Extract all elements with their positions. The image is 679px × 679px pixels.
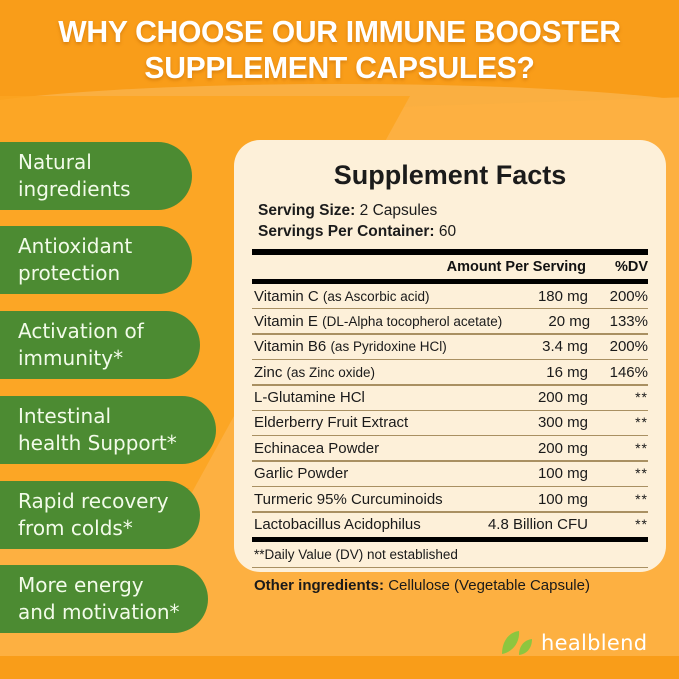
ingredient-name: Vitamin B6 (as Pyridoxine HCl) xyxy=(254,338,496,355)
ingredient-name-sub: (DL-Alpha tocopherol acetate) xyxy=(322,314,502,329)
benefit-pill-6: More energyand motivation* xyxy=(0,565,208,633)
benefit-pill-1: Naturalingredients xyxy=(0,142,192,210)
ingredient-amount: 200 mg xyxy=(496,440,588,457)
ingredient-daily-value: 133% xyxy=(604,313,648,330)
other-ingredients-line: Other ingredients: Cellulose (Vegetable … xyxy=(252,568,648,594)
ingredient-name-main: Vitamin E xyxy=(254,313,318,330)
supplement-facts-title: Supplement Facts xyxy=(252,158,648,192)
benefit-pill-4: Intestinalhealth Support* xyxy=(0,396,216,464)
brand-name: healblend xyxy=(541,631,647,655)
benefit-line-1: Natural xyxy=(18,149,131,176)
ingredient-table: Vitamin C (as Ascorbic acid)180 mg200%Vi… xyxy=(252,284,648,537)
table-row: Garlic Powder100 mg** xyxy=(252,462,648,486)
leaf-icon xyxy=(500,630,534,656)
ingredient-name-main: Vitamin C xyxy=(254,288,319,305)
serving-size-value: 2 Capsules xyxy=(360,202,438,219)
ingredient-amount: 100 mg xyxy=(496,465,588,482)
table-row: Vitamin B6 (as Pyridoxine HCl)3.4 mg200% xyxy=(252,335,648,359)
headline-line-1: WHY CHOOSE OUR IMMUNE BOOSTER xyxy=(58,14,620,49)
ingredient-name: Lactobacillus Acidophilus xyxy=(254,516,438,533)
ingredient-daily-value: ** xyxy=(602,465,648,481)
ingredient-amount: 180 mg xyxy=(496,288,588,305)
page-title: WHY CHOOSE OUR IMMUNE BOOSTER SUPPLEMENT… xyxy=(10,14,669,86)
benefit-line-1: Intestinal xyxy=(18,403,177,430)
table-row: Vitamin C (as Ascorbic acid)180 mg200% xyxy=(252,284,648,308)
servings-per-container-label: Servings Per Container: xyxy=(258,223,435,240)
ingredient-name-sub: (as Pyridoxine HCl) xyxy=(330,339,446,354)
ingredient-amount: 16 mg xyxy=(496,364,588,381)
table-row: L-Glutamine HCl200 mg** xyxy=(252,386,648,410)
benefit-line-1: Antioxidant xyxy=(18,233,132,260)
ingredient-name: Echinacea Powder xyxy=(254,440,496,457)
ingredient-amount: 300 mg xyxy=(496,414,588,431)
headline-line-2: SUPPLEMENT CAPSULES? xyxy=(10,50,669,86)
table-row: Vitamin E (DL-Alpha tocopherol acetate)2… xyxy=(252,309,648,333)
serving-size-label: Serving Size: xyxy=(258,202,355,219)
benefit-line-2: protection xyxy=(18,260,132,287)
supplement-facts-card: Supplement Facts Serving Size: 2 Capsule… xyxy=(234,140,666,572)
benefit-line-1: Rapid recovery xyxy=(18,488,169,515)
benefit-line-2: and motivation* xyxy=(18,599,180,626)
ingredient-amount: 3.4 mg xyxy=(496,338,588,355)
ingredient-daily-value: 200% xyxy=(602,338,648,355)
table-row: Lactobacillus Acidophilus4.8 Billion CFU… xyxy=(252,513,648,537)
ingredient-name: Vitamin E (DL-Alpha tocopherol acetate) xyxy=(254,313,502,330)
ingredient-amount: 100 mg xyxy=(496,491,588,508)
benefit-line-2: health Support* xyxy=(18,430,177,457)
servings-per-container-line: Servings Per Container: 60 xyxy=(252,221,648,242)
poster-root: WHY CHOOSE OUR IMMUNE BOOSTER SUPPLEMENT… xyxy=(0,0,679,679)
benefit-line-2: ingredients xyxy=(18,176,131,203)
ingredient-daily-value: ** xyxy=(602,414,648,430)
ingredient-name-main: L-Glutamine HCl xyxy=(254,389,365,406)
column-header-dv: %DV xyxy=(602,259,648,275)
ingredient-name-main: Lactobacillus Acidophilus xyxy=(254,516,421,533)
ingredient-name: L-Glutamine HCl xyxy=(254,389,496,406)
servings-per-container-value: 60 xyxy=(439,223,456,240)
ingredient-daily-value: ** xyxy=(602,516,648,532)
ingredient-amount: 20 mg xyxy=(502,313,590,330)
ingredient-daily-value: ** xyxy=(602,389,648,405)
ingredient-name: Garlic Powder xyxy=(254,465,496,482)
ingredient-name-main: Zinc xyxy=(254,364,282,381)
daily-value-footnote: **Daily Value (DV) not established xyxy=(252,542,648,567)
table-row: Zinc (as Zinc oxide)16 mg146% xyxy=(252,360,648,384)
ingredient-daily-value: 146% xyxy=(602,364,648,381)
benefit-line-1: Activation of xyxy=(18,318,144,345)
ingredient-name-main: Vitamin B6 xyxy=(254,338,326,355)
serving-size-line: Serving Size: 2 Capsules xyxy=(252,200,648,221)
ingredient-amount: 200 mg xyxy=(496,389,588,406)
benefit-line-2: from colds* xyxy=(18,515,169,542)
table-row: Elderberry Fruit Extract300 mg** xyxy=(252,411,648,435)
other-ingredients-value: Cellulose (Vegetable Capsule) xyxy=(388,577,590,594)
table-row: Turmeric 95% Curcuminoids100 mg** xyxy=(252,487,648,511)
table-header-row: Amount Per Serving %DV xyxy=(252,255,648,279)
ingredient-name: Elderberry Fruit Extract xyxy=(254,414,496,431)
ingredient-daily-value: 200% xyxy=(602,288,648,305)
benefit-line-2: immunity* xyxy=(18,345,144,372)
ingredient-name: Turmeric 95% Curcuminoids xyxy=(254,491,496,508)
benefit-pill-5: Rapid recoveryfrom colds* xyxy=(0,481,200,549)
table-row: Echinacea Powder200 mg** xyxy=(252,436,648,460)
ingredient-name-main: Garlic Powder xyxy=(254,465,348,482)
ingredient-name-main: Elderberry Fruit Extract xyxy=(254,414,408,431)
ingredient-name: Zinc (as Zinc oxide) xyxy=(254,364,496,381)
brand-logo: healblend xyxy=(500,630,647,656)
benefit-pill-3: Activation ofimmunity* xyxy=(0,311,200,379)
benefit-line-1: More energy xyxy=(18,572,180,599)
ingredient-name: Vitamin C (as Ascorbic acid) xyxy=(254,288,496,305)
column-header-amount: Amount Per Serving xyxy=(447,259,586,275)
benefit-pill-2: Antioxidantprotection xyxy=(0,226,192,294)
other-ingredients-label: Other ingredients: xyxy=(254,577,384,594)
ingredient-name-sub: (as Zinc oxide) xyxy=(287,365,376,380)
ingredient-name-main: Turmeric 95% Curcuminoids xyxy=(254,491,443,508)
ingredient-daily-value: ** xyxy=(602,440,648,456)
ingredient-daily-value: ** xyxy=(602,491,648,507)
ingredient-name-sub: (as Ascorbic acid) xyxy=(323,289,430,304)
ingredient-amount: 4.8 Billion CFU xyxy=(438,516,588,533)
ingredient-name-main: Echinacea Powder xyxy=(254,440,379,457)
